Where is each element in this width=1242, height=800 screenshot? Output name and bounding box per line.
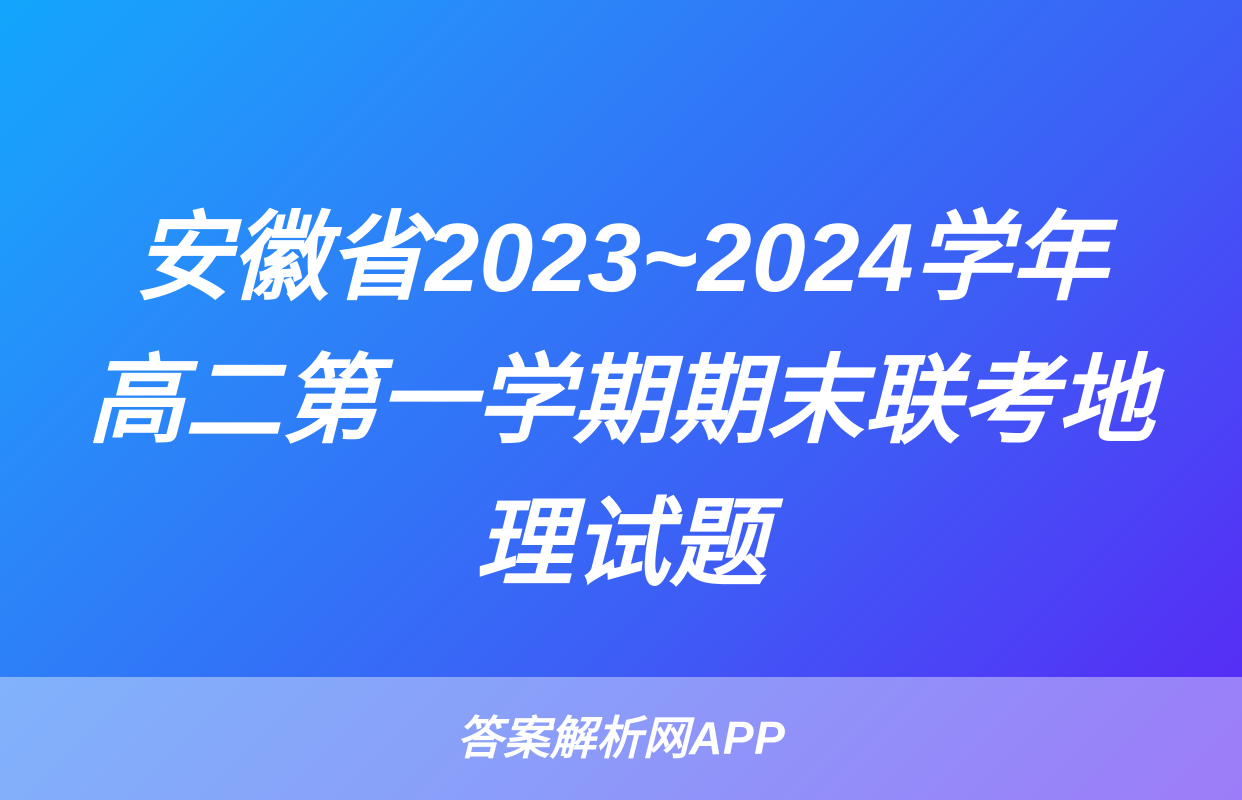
exam-cover-poster: 安徽省2023~2024学年 高二第一学期期末联考地 理试题 答案解析网APP [0, 0, 1242, 800]
page-title: 安徽省2023~2024学年 高二第一学期期末联考地 理试题 [0, 186, 1242, 615]
footer-watermark-band: 答案解析网APP [0, 677, 1242, 800]
page-title-line-3: 理试题 [46, 472, 1196, 615]
page-title-line-1: 安徽省2023~2024学年 [46, 186, 1196, 329]
app-watermark-label: 答案解析网APP [457, 715, 786, 763]
page-title-line-2: 高二第一学期期末联考地 [46, 329, 1196, 472]
